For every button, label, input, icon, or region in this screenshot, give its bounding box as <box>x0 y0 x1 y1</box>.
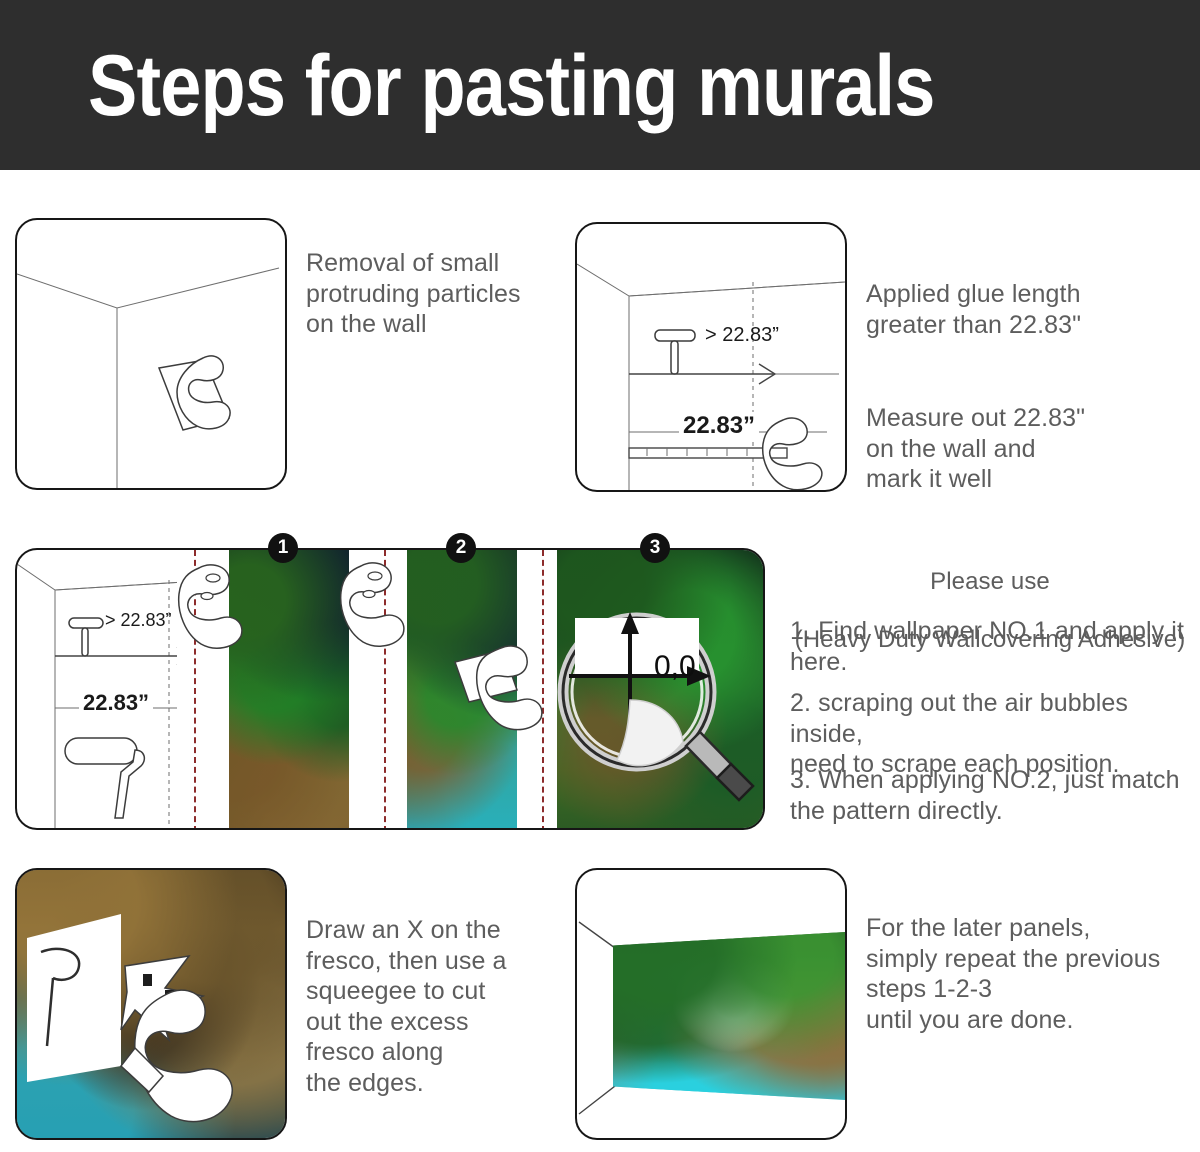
adhesive-heading-line1: Please use <box>930 568 1050 595</box>
caption-step-3: 3. When applying NO.2, just match the pa… <box>790 765 1190 826</box>
step-badge-2: 2 <box>446 533 476 563</box>
label-measure-row2: 22.83” <box>79 690 153 716</box>
glue-brush-icon <box>69 618 103 656</box>
panel-glue-measure: > 22.83” 22.83” <box>575 222 847 492</box>
step-badge-3: 3 <box>640 533 670 563</box>
hand-with-scraper-icon <box>159 356 230 430</box>
step-badge-1: 1 <box>268 533 298 563</box>
caption-measure-wall: Measure out 22.83" on the wall and mark … <box>866 403 1166 495</box>
waterfall-mural-icon <box>613 932 845 1100</box>
seam-strip-2 <box>349 550 407 830</box>
header-bar: Steps for pasting murals <box>0 0 1200 170</box>
caption-step-1: 1. Find wallpaper NO.1 and apply it here… <box>790 616 1190 677</box>
label-origin: 0,0 <box>654 650 696 684</box>
arrow-right-icon <box>55 647 192 665</box>
seam-strip-3 <box>517 550 557 830</box>
panel-steps: > 22.83” 22.83” <box>15 548 765 830</box>
page-title: Steps for pasting murals <box>88 36 935 136</box>
paint-roller-icon <box>65 738 144 818</box>
mural-panel-1 <box>217 550 365 830</box>
mural-corner-icon <box>27 914 121 1082</box>
caption-removal: Removal of small protruding particles on… <box>306 248 576 340</box>
seam-dashed-1 <box>194 550 196 830</box>
caption-cut-excess: Draw an X on the fresco, then use a sque… <box>306 915 576 1098</box>
seam-strip-1 <box>177 550 229 830</box>
mural-panel-3 <box>543 550 765 830</box>
seam-dashed-3 <box>542 550 544 830</box>
label-glue-length-row1: > 22.83” <box>705 324 779 347</box>
glue-brush-icon <box>655 330 695 374</box>
mural-panel-2 <box>399 550 529 830</box>
panel-final <box>575 868 847 1140</box>
panel-cut-excess <box>15 868 287 1140</box>
panel-wall-prep <box>15 218 287 490</box>
caption-glue-length: Applied glue length greater than 22.83" <box>866 279 1166 340</box>
seam-dashed-2 <box>384 550 386 830</box>
caption-final: For the later panels, simply repeat the … <box>866 913 1196 1035</box>
label-glue-length-row2: > 22.83” <box>105 610 172 631</box>
label-measure-row1: 22.83” <box>679 412 759 440</box>
wall-corner-icon <box>17 220 285 488</box>
